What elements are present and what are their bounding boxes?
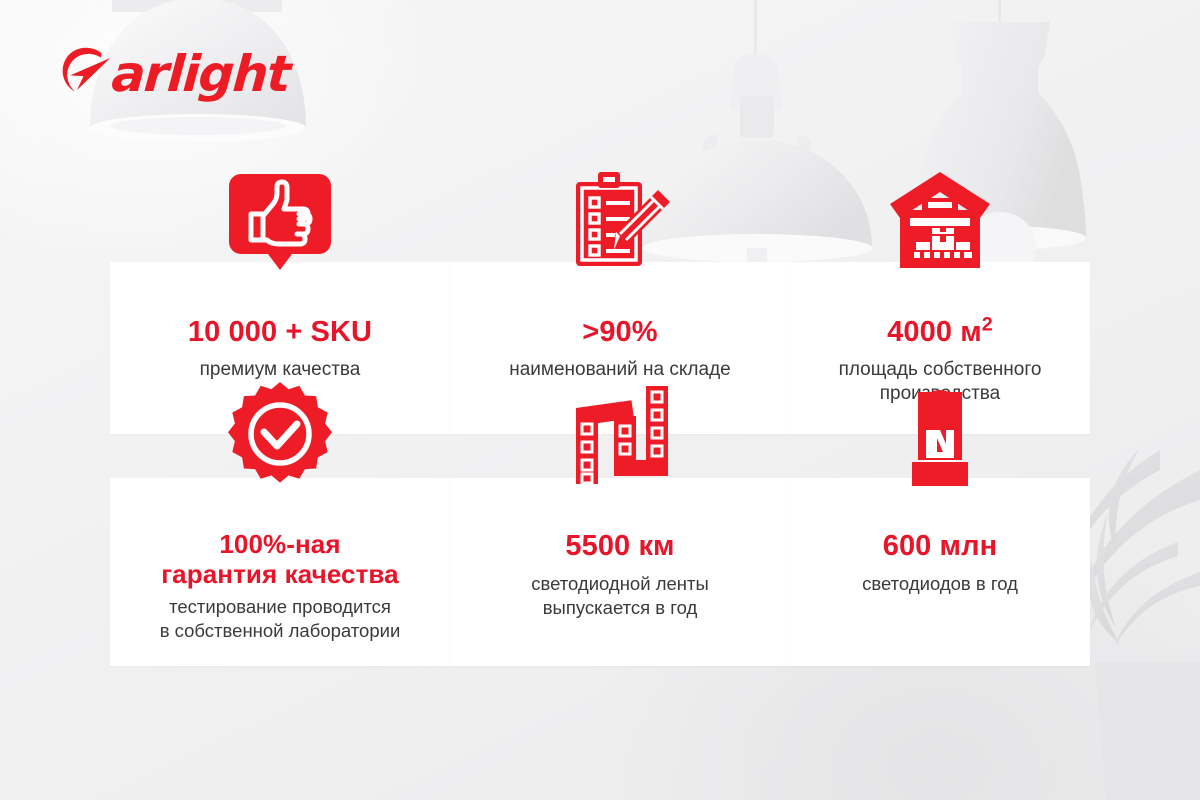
pencil	[612, 190, 670, 250]
stat-value-text: 4000 м	[887, 316, 982, 348]
stat-caption: площадь собственного производства	[839, 358, 1042, 406]
card-content: 100%-ная гарантия качества тестирование …	[110, 478, 450, 666]
stat-caption: тестирование проводится в собственной ла…	[160, 595, 401, 642]
pendant-cone-lamp	[914, 0, 1086, 280]
stat-caption: светодиодной ленты выпускается в год	[531, 572, 709, 619]
stat-card-led-strip[interactable]: 5500 км светодиодной ленты выпускается в…	[450, 478, 790, 666]
stat-caption: премиум качества	[200, 358, 361, 382]
thumbs-up-icon	[229, 174, 331, 270]
stat-value: 600 млн	[883, 530, 998, 562]
stats-row-2: 100%-ная гарантия качества тестирование …	[110, 478, 1090, 666]
stat-card-sku[interactable]: 10 000 + SKU премиум качества	[110, 262, 450, 434]
stat-caption: светодиодов в год	[862, 572, 1018, 595]
clipboard-checklist-pencil-icon	[562, 170, 678, 270]
stat-value: 5500 км	[565, 530, 674, 562]
card-content: 4000 м2 площадь собственного производств…	[790, 262, 1090, 434]
icon-slot	[450, 174, 790, 270]
icon-slot	[790, 174, 1090, 270]
infographic-canvas: arlight	[0, 0, 1200, 800]
stats-row-1: 10 000 + SKU премиум качества	[110, 262, 1090, 434]
stats-grid: 10 000 + SKU премиум качества	[110, 262, 1090, 666]
stat-value-superscript: 2	[982, 313, 993, 335]
stat-value: 100%-ная гарантия качества	[161, 530, 398, 589]
stat-card-led-count[interactable]: 600 млн светодиодов в год	[790, 478, 1090, 666]
brand-logo[interactable]: arlight	[56, 42, 289, 106]
stat-caption: наименований на складе	[509, 358, 730, 382]
arlight-swoosh-arrow-icon	[56, 43, 118, 105]
pendant-industrial-lamp	[642, 0, 872, 296]
stat-value: 10 000 + SKU	[188, 316, 372, 348]
warehouse-boxes-icon	[888, 170, 992, 270]
card-content: 5500 км светодиодной ленты выпускается в…	[450, 478, 790, 666]
brand-wordmark: arlight	[110, 49, 291, 99]
card-content: 10 000 + SKU премиум качества	[110, 262, 450, 434]
stat-card-area[interactable]: 4000 м2 площадь собственного производств…	[790, 262, 1090, 434]
icon-slot	[110, 174, 450, 270]
stat-value: 4000 м2	[887, 316, 993, 348]
stat-card-stock[interactable]: >90% наименований на складе	[450, 262, 790, 434]
stat-card-quality[interactable]: 100%-ная гарантия качества тестирование …	[110, 478, 450, 666]
card-content: 600 млн светодиодов в год	[790, 478, 1090, 666]
card-content: >90% наименований на складе	[450, 262, 790, 434]
stat-value: >90%	[582, 316, 657, 348]
